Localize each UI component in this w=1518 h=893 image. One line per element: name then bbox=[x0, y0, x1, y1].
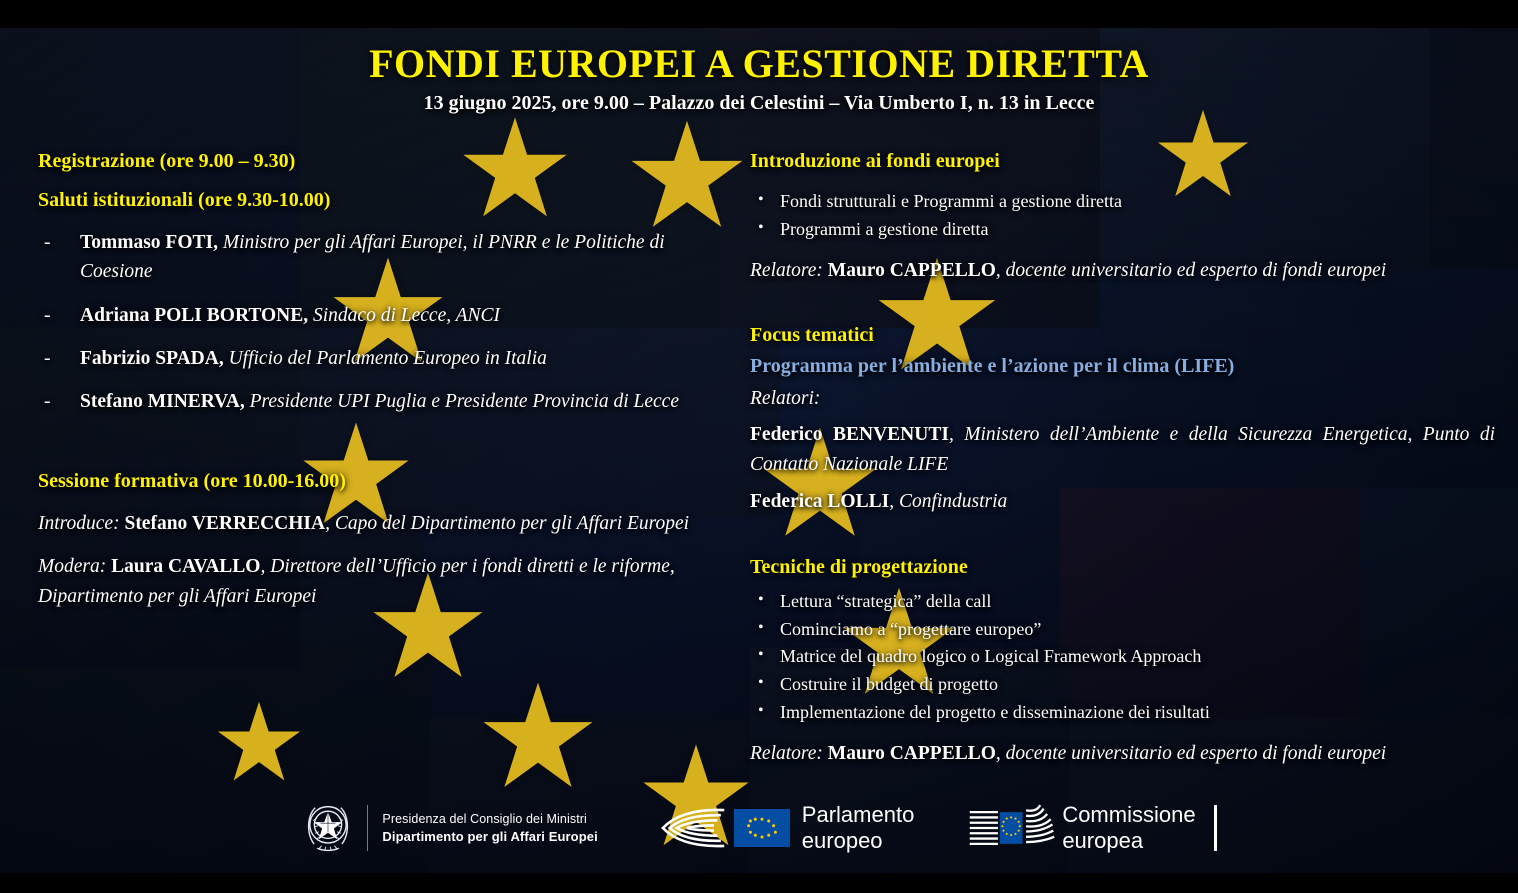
intro-speaker-name: Mauro CAPPELLO bbox=[828, 260, 996, 281]
list-item: Costruire il budget di progetto bbox=[750, 672, 1495, 697]
speaker-role: Ufficio del Parlamento Europeo in Italia bbox=[229, 348, 547, 369]
commission-divider bbox=[1214, 805, 1217, 851]
list-item: Programmi a gestione diretta bbox=[750, 217, 1495, 242]
introduce-role: , Capo del Dipartimento per gli Affari E… bbox=[325, 513, 689, 534]
left-column: Registrazione (ore 9.00 – 9.30) Saluti i… bbox=[38, 150, 718, 624]
intro-speaker-label: Relatore: bbox=[750, 260, 823, 281]
intro-bullets-list: Fondi strutturali e Programmi a gestione… bbox=[750, 189, 1495, 242]
techniques-speaker-name: Mauro CAPPELLO bbox=[828, 743, 996, 764]
logo-presidenza-consiglio: Presidenza del Consiglio dei Ministri Di… bbox=[301, 797, 597, 859]
training-session-heading: Sessione formativa (ore 10.00-16.00) bbox=[38, 470, 718, 493]
poster-content: FONDI EUROPEI A GESTIONE DIRETTA 13 giug… bbox=[0, 0, 1518, 893]
presidenza-line1: Presidenza del Consiglio dei Ministri bbox=[382, 810, 597, 828]
intro-speaker-role: , docente universitario ed esperto di fo… bbox=[996, 260, 1386, 281]
european-commission-flag-icon bbox=[968, 803, 1056, 853]
relatori-label: Relatori: bbox=[750, 384, 1495, 414]
footer-logos: Presidenza del Consiglio dei Ministri Di… bbox=[0, 787, 1518, 869]
parliament-text: Parlamento europeo bbox=[802, 802, 915, 853]
life-speaker-name: Federico BENVENUTI bbox=[750, 424, 949, 445]
list-item: Adriana POLI BORTONE, Sindaco di Lecce, … bbox=[38, 301, 718, 330]
parliament-line1: Parlamento bbox=[802, 802, 915, 828]
list-item: Fabrizio SPADA, Ufficio del Parlamento E… bbox=[38, 344, 718, 373]
life-speaker-role: , Confindustria bbox=[889, 491, 1007, 512]
introduce-label: Introduce: bbox=[38, 513, 120, 534]
commission-line1: Commissione bbox=[1062, 802, 1195, 828]
logo-commissione-europea: Commissione europea bbox=[968, 802, 1216, 853]
moderator-label: Modera: bbox=[38, 556, 106, 577]
list-item: Fondi strutturali e Programmi a gestione… bbox=[750, 189, 1495, 214]
parliament-line2: europeo bbox=[802, 828, 915, 854]
life-speaker-line: Federico BENVENUTI, Ministero dell’Ambie… bbox=[750, 420, 1495, 479]
techniques-heading: Tecniche di progettazione bbox=[750, 556, 1495, 579]
presidenza-line2: Dipartimento per gli Affari Europei bbox=[382, 828, 597, 847]
eu-flag-icon bbox=[734, 809, 790, 847]
european-parliament-hemicycle-icon bbox=[652, 805, 730, 851]
speakers-list: Tommaso FOTI, Ministro per gli Affari Eu… bbox=[38, 228, 718, 416]
logo-divider bbox=[367, 805, 368, 851]
commission-text: Commissione europea bbox=[1062, 802, 1195, 853]
techniques-speaker-line: Relatore: Mauro CAPPELLO, docente univer… bbox=[750, 739, 1495, 769]
list-item: Lettura “strategica” della call bbox=[750, 589, 1495, 614]
list-item: Implementazione del progetto e dissemina… bbox=[750, 700, 1495, 725]
right-column: Introduzione ai fondi europei Fondi stru… bbox=[750, 150, 1495, 782]
speaker-role: Sindaco di Lecce, ANCI bbox=[313, 305, 500, 326]
life-speaker-line: Federica LOLLI, Confindustria bbox=[750, 487, 1495, 517]
moderator-name: Laura CAVALLO bbox=[111, 556, 260, 577]
page-title: FONDI EUROPEI A GESTIONE DIRETTA bbox=[0, 40, 1518, 87]
logo-parlamento-europeo: Parlamento europeo bbox=[652, 802, 915, 853]
letterbox-top-bar bbox=[0, 0, 1518, 28]
speaker-name: Tommaso FOTI, bbox=[80, 232, 218, 253]
techniques-bullets-list: Lettura “strategica” della call Comincia… bbox=[750, 589, 1495, 725]
registration-heading: Registrazione (ore 9.00 – 9.30) bbox=[38, 150, 718, 173]
italian-republic-emblem-icon bbox=[301, 797, 355, 859]
speaker-name: Stefano MINERVA, bbox=[80, 391, 245, 412]
letterbox-bottom-bar bbox=[0, 873, 1518, 893]
introduce-line: Introduce: Stefano VERRECCHIA, Capo del … bbox=[38, 509, 718, 539]
list-item: Cominciamo a “progettare europeo” bbox=[750, 617, 1495, 642]
speaker-name: Adriana POLI BORTONE, bbox=[80, 305, 308, 326]
list-item: Stefano MINERVA, Presidente UPI Puglia e… bbox=[38, 387, 718, 416]
event-poster: FONDI EUROPEI A GESTIONE DIRETTA 13 giug… bbox=[0, 0, 1518, 893]
speaker-name: Fabrizio SPADA, bbox=[80, 348, 224, 369]
life-programme-subheading: Programma per l’ambiente e l’azione per … bbox=[750, 355, 1495, 378]
intro-speaker-line: Relatore: Mauro CAPPELLO, docente univer… bbox=[750, 256, 1495, 286]
event-subtitle: 13 giugno 2025, ore 9.00 – Palazzo dei C… bbox=[0, 92, 1518, 115]
list-item: Tommaso FOTI, Ministro per gli Affari Eu… bbox=[38, 228, 718, 287]
focus-heading: Focus tematici bbox=[750, 324, 1495, 347]
intro-funds-heading: Introduzione ai fondi europei bbox=[750, 150, 1495, 173]
speaker-role: Presidente UPI Puglia e Presidente Provi… bbox=[250, 391, 679, 412]
moderator-line: Modera: Laura CAVALLO, Direttore dell’Uf… bbox=[38, 552, 718, 611]
presidenza-text: Presidenza del Consiglio dei Ministri Di… bbox=[382, 810, 597, 847]
commission-line2: europea bbox=[1062, 828, 1195, 854]
techniques-speaker-label: Relatore: bbox=[750, 743, 823, 764]
greetings-heading: Saluti istituzionali (ore 9.30-10.00) bbox=[38, 189, 718, 212]
list-item: Matrice del quadro logico o Logical Fram… bbox=[750, 644, 1495, 669]
techniques-speaker-role: , docente universitario ed esperto di fo… bbox=[996, 743, 1386, 764]
introduce-name: Stefano VERRECCHIA bbox=[124, 513, 325, 534]
life-speaker-name: Federica LOLLI bbox=[750, 491, 889, 512]
